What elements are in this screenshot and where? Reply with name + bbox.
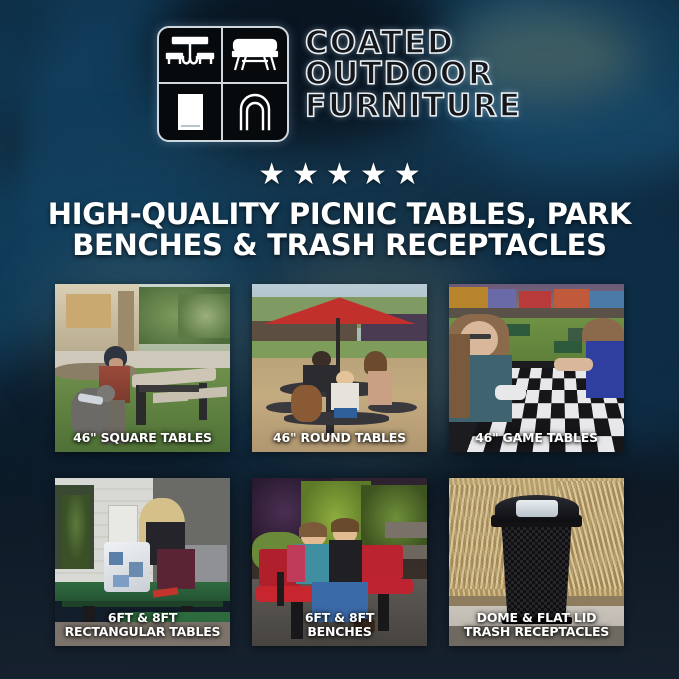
product-tile-trash-receptacles[interactable]: DOME & FLAT LID TRASH RECEPTACLES bbox=[449, 478, 624, 646]
caption-line-1: 46" SQUARE TABLES bbox=[59, 431, 226, 445]
star-5: ★ bbox=[394, 160, 421, 190]
star-4: ★ bbox=[360, 160, 387, 190]
product-caption-rectangular-tables: 6FT & 8FT RECTANGULAR TABLES bbox=[55, 611, 230, 638]
logo-line-2: OUTDOOR bbox=[305, 59, 522, 89]
product-photo-round-tables bbox=[252, 284, 427, 452]
product-caption-trash-receptacles: DOME & FLAT LID TRASH RECEPTACLES bbox=[449, 611, 624, 638]
product-tile-rectangular-tables[interactable]: 6FT & 8FT RECTANGULAR TABLES bbox=[55, 478, 230, 646]
caption-line-1: 6FT & 8FT bbox=[59, 611, 226, 625]
product-caption-benches: 6FT & 8FT BENCHES bbox=[252, 611, 427, 638]
headline: HIGH-QUALITY PICNIC TABLES, PARK BENCHES… bbox=[0, 199, 679, 261]
product-caption-round-tables: 46" ROUND TABLES bbox=[252, 431, 427, 445]
caption-line-2: RECTANGULAR TABLES bbox=[59, 625, 226, 639]
caption-line-2: BENCHES bbox=[256, 625, 423, 639]
star-2: ★ bbox=[292, 160, 319, 190]
bike-rack-icon bbox=[223, 84, 287, 140]
product-grid: 46" SQUARE TABLES bbox=[55, 284, 625, 646]
logo-icon-grid bbox=[157, 26, 289, 142]
product-tile-benches[interactable]: 6FT & 8FT BENCHES bbox=[252, 478, 427, 646]
caption-line-1: DOME & FLAT LID bbox=[453, 611, 620, 625]
headline-line-2: BENCHES & TRASH RECEPTACLES bbox=[28, 230, 651, 261]
logo-line-1: COATED bbox=[305, 28, 522, 58]
park-bench-icon bbox=[223, 28, 287, 84]
brand-logo: COATED OUTDOOR FURNITURE bbox=[0, 26, 679, 142]
product-tile-round-tables[interactable]: 46" ROUND TABLES bbox=[252, 284, 427, 452]
caption-line-1: 6FT & 8FT bbox=[256, 611, 423, 625]
caption-line-2: TRASH RECEPTACLES bbox=[453, 625, 620, 639]
product-caption-square-tables: 46" SQUARE TABLES bbox=[55, 431, 230, 445]
logo-line-3: FURNITURE bbox=[305, 91, 522, 121]
product-tile-square-tables[interactable]: 46" SQUARE TABLES bbox=[55, 284, 230, 452]
product-photo-square-tables bbox=[55, 284, 230, 452]
product-tile-game-tables[interactable]: 46" GAME TABLES bbox=[449, 284, 624, 452]
headline-line-1: HIGH-QUALITY PICNIC TABLES, PARK bbox=[48, 197, 631, 231]
picnic-table-icon bbox=[159, 28, 223, 84]
star-1: ★ bbox=[258, 160, 285, 190]
logo-wordmark: COATED OUTDOOR FURNITURE bbox=[305, 26, 522, 121]
caption-line-1: 46" GAME TABLES bbox=[453, 431, 620, 445]
trash-receptacle-icon bbox=[159, 84, 223, 140]
promo-banner: COATED OUTDOOR FURNITURE ★ ★ ★ ★ ★ HIGH-… bbox=[0, 0, 679, 679]
star-3: ★ bbox=[326, 160, 353, 190]
caption-line-1: 46" ROUND TABLES bbox=[256, 431, 423, 445]
star-rating: ★ ★ ★ ★ ★ bbox=[0, 160, 679, 190]
product-photo-game-tables bbox=[449, 284, 624, 452]
product-caption-game-tables: 46" GAME TABLES bbox=[449, 431, 624, 445]
